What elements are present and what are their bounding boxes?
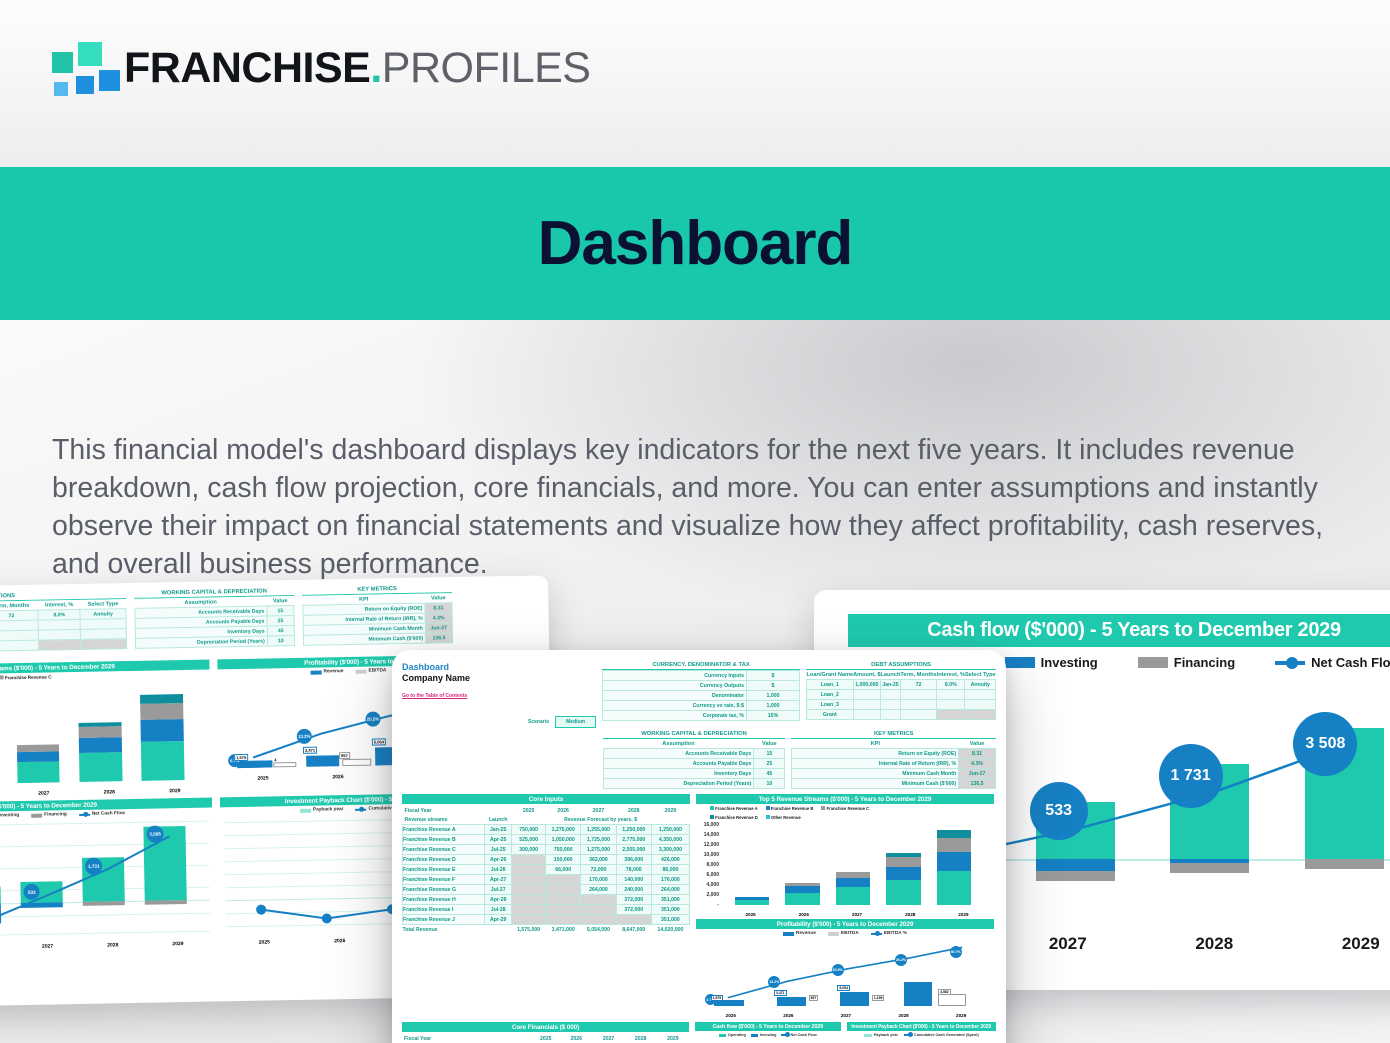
- bar: [17, 744, 60, 752]
- legend-item: Revenue: [310, 669, 343, 675]
- x-tick-2027: 2027: [995, 934, 1142, 954]
- bar: [273, 762, 296, 767]
- bar: [886, 857, 921, 867]
- cell[interactable]: 351,000: [651, 895, 689, 905]
- cell[interactable]: 170,000: [581, 875, 616, 885]
- cell: 10: [267, 635, 294, 645]
- bar: [785, 893, 820, 905]
- cell[interactable]: 72: [900, 680, 936, 690]
- x-tick: 2028: [77, 789, 143, 796]
- bar: [79, 737, 122, 753]
- cell[interactable]: 3,300,000: [651, 845, 689, 855]
- data-bubble-2027: 533: [1030, 782, 1088, 840]
- legend-item: Net Cash Flow: [781, 1033, 816, 1037]
- bar: [342, 759, 371, 767]
- bar-label: 3,471: [303, 747, 317, 754]
- cell: Total Revenue: [403, 925, 485, 935]
- brand-name-dot: .: [370, 44, 381, 92]
- data-bubble: 26.2%: [895, 954, 907, 966]
- bar: [840, 992, 869, 1006]
- legend-item-financing: Financing: [1138, 655, 1235, 670]
- cell[interactable]: 1,050,000: [546, 835, 581, 845]
- cell: Franchise Revenue I: [403, 905, 485, 915]
- logo-squares-icon: [52, 40, 110, 96]
- cell[interactable]: 15%: [747, 711, 800, 721]
- x-tick: 2029: [932, 1013, 990, 1018]
- net-cash-flow-line: [0, 821, 210, 937]
- col-header: 2025: [512, 806, 546, 815]
- cell: 136.5: [959, 779, 996, 789]
- cell[interactable]: Jul-27: [485, 885, 512, 895]
- legend-item: Operating: [719, 1033, 746, 1037]
- key-metrics-table: KPIValue Return on Equity (ROE)8.31 Inte…: [302, 593, 453, 646]
- cell: Return on Equity (ROE): [792, 749, 959, 759]
- debt-table-2: Loan/Grant Name Amount, $ Launch Term, M…: [806, 670, 996, 720]
- bar: [237, 760, 272, 768]
- cell[interactable]: Annuity: [965, 680, 996, 690]
- col-header: 2027: [581, 806, 616, 815]
- bar: [306, 755, 339, 767]
- legend-item-investing: Investing: [1005, 655, 1098, 670]
- col-header: 2028: [616, 806, 651, 815]
- page-header: FRANCHISE.PROFILES: [0, 0, 1390, 167]
- core-financials-title: Core Financials ($ 000): [402, 1022, 689, 1032]
- col-header: 2026: [546, 806, 581, 815]
- cell: Accounts Receivable Days: [603, 749, 754, 759]
- cell: Grant: [807, 710, 854, 720]
- profitability-chart-title-2: Profitability ($'000) - 5 Years to Decem…: [696, 919, 994, 929]
- bar: [886, 853, 921, 857]
- col-header: Amount, $: [853, 670, 880, 680]
- cell[interactable]: 78,000: [616, 865, 651, 875]
- cell: Minimum Cash Month: [792, 769, 959, 779]
- payback-plot-2: 6,000 5,000 4,000 3,000 2,000 1,000 - (1…: [847, 1039, 996, 1043]
- table-of-contents-link[interactable]: Go to the Table of Contents: [402, 693, 467, 699]
- cell: Minimum Cash ($'000): [792, 779, 959, 789]
- cell[interactable]: 1,255,000: [581, 825, 616, 835]
- profitability-plot-2: 0.7% 13.2% 20.5% 26.2% 30.7% 1,575 3,471…: [696, 938, 994, 1018]
- bar: [79, 726, 122, 738]
- legend-item: EBITDA: [355, 668, 386, 674]
- col-header: Interest, %: [937, 670, 965, 680]
- x-tick: 2029: [145, 941, 210, 948]
- top5-revenue-plot-2: 16,000 14,000 12,000 10,000 8,000 6,000 …: [696, 822, 994, 917]
- cell: Fiscal Year: [402, 1034, 531, 1043]
- brand-name-light: PROFILES: [382, 44, 591, 92]
- legend-item: EBITDA: [828, 931, 859, 936]
- cell[interactable]: 150,000: [546, 855, 581, 865]
- legend-item: Investing: [751, 1033, 777, 1037]
- x-tick: 2026: [760, 1013, 818, 1018]
- x-tick: 2025: [724, 912, 777, 917]
- cell: 8.31: [425, 603, 452, 613]
- cell[interactable]: Apr-26: [485, 855, 512, 865]
- currency-table-2: Currency Inputs$ Currency Outputs$ Denom…: [602, 670, 800, 721]
- cell[interactable]: 1,000,000: [853, 680, 880, 690]
- legend-item: Financing: [31, 812, 67, 818]
- cell: Loan_1: [807, 680, 854, 690]
- legend-item: EBITDA %: [871, 931, 907, 936]
- col-header: 2028: [625, 1034, 657, 1043]
- working-capital-table: AssumptionValue Accounts Receivable Days…: [134, 596, 295, 649]
- x-tick: 2025: [225, 775, 300, 782]
- cell: 8.31: [959, 749, 996, 759]
- bar: [886, 867, 921, 880]
- cell: Currency Outputs: [603, 681, 747, 691]
- bar: [79, 752, 122, 782]
- legend-item: Revenue: [783, 931, 816, 936]
- payback-chart-title-2: Investment Payback Chart ($'000) - 5 Yea…: [847, 1022, 996, 1031]
- col-header: Select Type: [965, 670, 996, 680]
- x-tick: 2027: [817, 1013, 875, 1018]
- cell[interactable]: 66,000: [546, 865, 581, 875]
- cell[interactable]: 176,000: [651, 875, 689, 885]
- cashflow-center-legend: Operating Investing Net Cash Flow: [695, 1031, 841, 1039]
- bar-label: 4: [273, 757, 277, 762]
- bar: [785, 883, 820, 886]
- cell: Inventory Days: [603, 769, 754, 779]
- data-bubble: 30.7%: [950, 946, 962, 958]
- core-inputs-title: Core Inputs: [402, 794, 690, 804]
- bar-label: 1,199: [872, 995, 885, 1001]
- bar-label: 5,054: [372, 738, 386, 745]
- col-header: Value: [754, 739, 785, 749]
- payback-legend-2: Payback year Cumulative Cash Generated (…: [847, 1031, 996, 1039]
- cell: Loan_2: [807, 690, 854, 700]
- cell: Denominator: [603, 691, 747, 701]
- cell[interactable]: 300,000: [512, 845, 546, 855]
- screenshot-panel-center: Dashboard Company Name Go to the Table o…: [392, 650, 1006, 1043]
- bar: [937, 852, 972, 871]
- cell: 15: [267, 605, 294, 615]
- bar: [735, 897, 770, 900]
- cell[interactable]: 362,000: [581, 855, 616, 865]
- col-header: Value: [266, 596, 293, 606]
- bar-label: 4,582: [938, 989, 951, 995]
- cell: Internal Rate of Return (IRR), %: [792, 759, 959, 769]
- cell[interactable]: 1,250,000: [616, 825, 651, 835]
- cell[interactable]: $: [747, 671, 800, 681]
- cell: Minimum Cash ($'000): [303, 633, 425, 645]
- cell[interactable]: 396,000: [616, 855, 651, 865]
- cell: Fiscal Year: [403, 806, 485, 815]
- legend-item: Franchise Revenue D: [710, 815, 758, 820]
- x-tick-2029: 2029: [1288, 934, 1390, 954]
- cell[interactable]: 525,000: [512, 835, 546, 845]
- page-title: Dashboard: [538, 208, 853, 279]
- cell[interactable]: 15: [754, 749, 785, 759]
- working-capital-table-2: AssumptionValue Accounts Receivable Days…: [603, 739, 786, 789]
- col-header: 2027: [592, 1034, 624, 1043]
- cell: Franchise Revenue D: [403, 855, 485, 865]
- core-inputs-table: Fiscal Year 2025 2026 2027 2028 2029 Rev…: [402, 806, 690, 934]
- bar: [836, 887, 871, 905]
- x-tick: 2026: [0, 944, 15, 951]
- cell[interactable]: 426,000: [651, 855, 689, 865]
- cell: 136.5: [425, 633, 452, 643]
- working-capital-title-2: WORKING CAPITAL & DEPRECIATION: [603, 731, 786, 739]
- bar: [836, 872, 871, 878]
- cell: 14,020,000: [651, 925, 689, 935]
- x-tick: 2028: [80, 942, 145, 949]
- core-financials-table: Fiscal Year 2025 2026 2027 2028 2029 Rev…: [402, 1034, 689, 1043]
- bar: [141, 703, 184, 720]
- x-tick: 2028: [875, 1013, 933, 1018]
- cell[interactable]: 86,000: [651, 865, 689, 875]
- cell: Accounts Payable Days: [603, 759, 754, 769]
- cell[interactable]: 1,250,000: [651, 825, 689, 835]
- cell[interactable]: 750,000: [546, 845, 581, 855]
- cell[interactable]: Jul-26: [485, 865, 512, 875]
- currency-block-title-2: CURRENCY, DENOMINATOR & TAX: [602, 662, 800, 670]
- cell[interactable]: 1,000: [747, 701, 800, 711]
- legend-item: Franchise Revenue A: [710, 806, 758, 811]
- cell[interactable]: 140,000: [616, 875, 651, 885]
- bar-label: 8,647: [901, 977, 912, 981]
- scenario-select[interactable]: Medium: [555, 716, 596, 728]
- bar-label: 3,471: [774, 990, 787, 996]
- cashflow-center-plot: 4,000 3,000 2,000 1,000 - (1,000) (2,000…: [695, 1039, 841, 1043]
- cell: Franchise Revenue B: [403, 835, 485, 845]
- bar: [141, 741, 184, 781]
- data-bubble-2028: 1 731: [1159, 744, 1223, 808]
- cell[interactable]: 72,000: [581, 865, 616, 875]
- cell[interactable]: Apr-29: [485, 915, 512, 925]
- cell[interactable]: Apr-28: [485, 895, 512, 905]
- cell: Jun-27: [425, 623, 452, 633]
- cell: Franchise Revenue C: [403, 845, 485, 855]
- bar: [17, 751, 60, 762]
- key-metrics-table-2: KPIValue Return on Equity (ROE)8.31 Inte…: [791, 739, 996, 789]
- col-header: Assumption: [603, 739, 754, 749]
- col-header: Revenue Forecast by years, $: [512, 815, 690, 825]
- col-header: KPI: [792, 739, 959, 749]
- bar: [937, 830, 972, 838]
- cell: Jun-27: [959, 769, 996, 779]
- cell[interactable]: 1,275,000: [581, 845, 616, 855]
- bar: [141, 719, 184, 742]
- scenario-label: Scenario: [528, 719, 549, 725]
- x-tick: 2026: [300, 774, 375, 781]
- cell[interactable]: 1,725,000: [581, 835, 616, 845]
- brand-logo: FRANCHISE.PROFILES: [52, 40, 590, 96]
- x-tick: 2026: [777, 912, 830, 917]
- cell[interactable]: 45: [754, 769, 785, 779]
- bar: [937, 838, 972, 852]
- cell: 3,471,000: [546, 925, 581, 935]
- center-card-title: Dashboard: [402, 662, 596, 673]
- cell[interactable]: 372,000: [616, 895, 651, 905]
- bar: [904, 982, 933, 1006]
- bar: [735, 900, 770, 905]
- bar: [140, 694, 183, 704]
- bar: [777, 997, 806, 1006]
- x-tick: 2029: [937, 912, 990, 917]
- cell: Loan_3: [807, 700, 854, 710]
- data-bubble: 20.5%: [832, 964, 844, 976]
- cell: 45: [267, 625, 294, 635]
- title-banner: Dashboard: [0, 167, 1390, 320]
- cell: Depreciation Period (Years): [603, 779, 754, 789]
- cell: Currency ex rate, $:$: [603, 701, 747, 711]
- debt-table: Loan/Grant Name Amount, $ Launch Term, M…: [0, 599, 127, 654]
- col-header: 2026: [560, 1034, 592, 1043]
- bar: [836, 878, 871, 887]
- legend-item: Other Revenue: [766, 815, 801, 820]
- legend-item: Payback year: [300, 807, 344, 813]
- col-header: Term, Months: [900, 670, 936, 680]
- legend-item-net-cash-flow: Net Cash Flow: [1275, 655, 1390, 670]
- cell[interactable]: 264,000: [581, 885, 616, 895]
- legend-item: Net Cash Flow: [79, 811, 125, 817]
- legend-item: Franchise Revenue B: [766, 806, 814, 811]
- bar: [938, 994, 966, 1006]
- cell[interactable]: 2,775,000: [616, 835, 651, 845]
- cell: Corporate tax, %: [603, 711, 747, 721]
- cell[interactable]: 351,000: [651, 905, 689, 915]
- cell: 4.3%: [959, 759, 996, 769]
- data-bubble-2029: 3 508: [1293, 712, 1357, 776]
- x-tick: 2026: [302, 938, 378, 945]
- col-header: Revenue streams: [403, 815, 485, 825]
- legend-item: Cumulative Cash Generated (Spent): [904, 1033, 979, 1037]
- cell[interactable]: Jul-25: [485, 845, 512, 855]
- cashflow-right-chart-title: Cash flow ($'000) - 5 Years to December …: [848, 614, 1390, 647]
- col-header: Launch: [485, 815, 512, 825]
- cashflow-left-plot: 4,000 3,000 2,000 1,000 - (1,000) (2,000…: [0, 817, 215, 954]
- debt-block-title-2: DEBT ASSUMPTIONS: [806, 662, 996, 670]
- key-metrics-title-2: KEY METRICS: [791, 731, 996, 739]
- x-tick-2028: 2028: [1141, 934, 1288, 954]
- cell[interactable]: Apr-25: [485, 835, 512, 845]
- col-header: Value: [959, 739, 996, 749]
- legend-item: Franchise Revenue C: [0, 674, 52, 680]
- bar-label: 1,575: [234, 754, 248, 761]
- bar-label: 1,575: [711, 995, 724, 1001]
- col-header: Launch: [880, 670, 900, 680]
- cell: 1,575,000: [512, 925, 546, 935]
- x-tick: 2028: [884, 912, 937, 917]
- cell[interactable]: 1,275,000: [546, 825, 581, 835]
- cell: 8,647,000: [616, 925, 651, 935]
- cell[interactable]: Apr-27: [485, 875, 512, 885]
- cell[interactable]: $: [747, 681, 800, 691]
- bar-label: 5,054: [837, 985, 850, 991]
- cell[interactable]: 25: [754, 759, 785, 769]
- description-paragraph: This financial model's dashboard display…: [52, 431, 1342, 583]
- cell: Depreciation Period (Years): [135, 636, 267, 648]
- cell[interactable]: 1,000: [747, 691, 800, 701]
- col-header: Loan/Grant Name: [807, 670, 854, 680]
- bar: [17, 761, 60, 783]
- brand-name-bold: FRANCHISE: [124, 44, 370, 92]
- cell[interactable]: 372,000: [616, 905, 651, 915]
- center-card-subtitle: Company Name: [402, 673, 596, 684]
- bar-label: 957: [809, 995, 819, 1001]
- bar: [79, 722, 122, 727]
- legend-item: Franchise Revenue C: [821, 806, 869, 811]
- cell[interactable]: 10: [754, 779, 785, 789]
- col-header: 2029: [651, 806, 689, 815]
- x-tick: 2027: [11, 790, 77, 797]
- cell[interactable]: Jul-28: [485, 905, 512, 915]
- bar-label: 957: [339, 752, 350, 759]
- cell: Franchise Revenue E: [403, 865, 485, 875]
- cell[interactable]: 750,000: [512, 825, 546, 835]
- cell[interactable]: 8.0%: [937, 680, 965, 690]
- cell[interactable]: 240,000: [616, 885, 651, 895]
- cell: Currency Inputs: [603, 671, 747, 681]
- brand-wordmark: FRANCHISE.PROFILES: [124, 47, 590, 90]
- cell[interactable]: Jan-25: [880, 680, 900, 690]
- cell[interactable]: 4,350,000: [651, 835, 689, 845]
- col-header: 2029: [657, 1034, 689, 1043]
- cashflow-center-chart-title: Cash flow ($'000) - 5 Years to December …: [695, 1022, 841, 1031]
- cell: Franchise Revenue H: [403, 895, 485, 905]
- top5-revenue-chart-title-2: Top 5 Revenue Streams ($'000) - 5 Years …: [696, 794, 994, 804]
- content-stage: This financial model's dashboard display…: [0, 320, 1390, 1043]
- cell: Franchise Revenue J: [403, 915, 485, 925]
- x-tick: 2027: [15, 943, 80, 950]
- bar: [886, 880, 921, 905]
- cell: Franchise Revenue F: [403, 875, 485, 885]
- cell[interactable]: 2,055,000: [616, 845, 651, 855]
- cell: Franchise Revenue G: [403, 885, 485, 895]
- cell[interactable]: 351,000: [651, 915, 689, 925]
- cell: 5,054,000: [581, 925, 616, 935]
- cell: 4.3%: [425, 613, 452, 623]
- legend-item: Investing: [0, 813, 19, 819]
- top5-revenue-plot: 16,000 14,000 12,000 10,000 8,000 6,000 …: [0, 690, 212, 801]
- x-tick: 2025: [226, 939, 302, 946]
- x-tick: 2029: [142, 788, 208, 795]
- profitability-legend-2: Revenue EBITDA EBITDA %: [696, 929, 994, 938]
- cell[interactable]: Jan-25: [485, 825, 512, 835]
- x-tick: 2026: [0, 791, 11, 798]
- x-tick: 2025: [702, 1013, 760, 1018]
- bar: [937, 871, 972, 905]
- col-header: 2025: [531, 1034, 560, 1043]
- bar: [785, 886, 820, 893]
- col-header: Value: [425, 593, 452, 603]
- cell: Franchise Revenue A: [403, 825, 485, 835]
- cell: 25: [267, 615, 294, 625]
- legend-item: Payback year: [864, 1033, 898, 1037]
- x-tick: 2027: [830, 912, 883, 917]
- cell[interactable]: 264,000: [651, 885, 689, 895]
